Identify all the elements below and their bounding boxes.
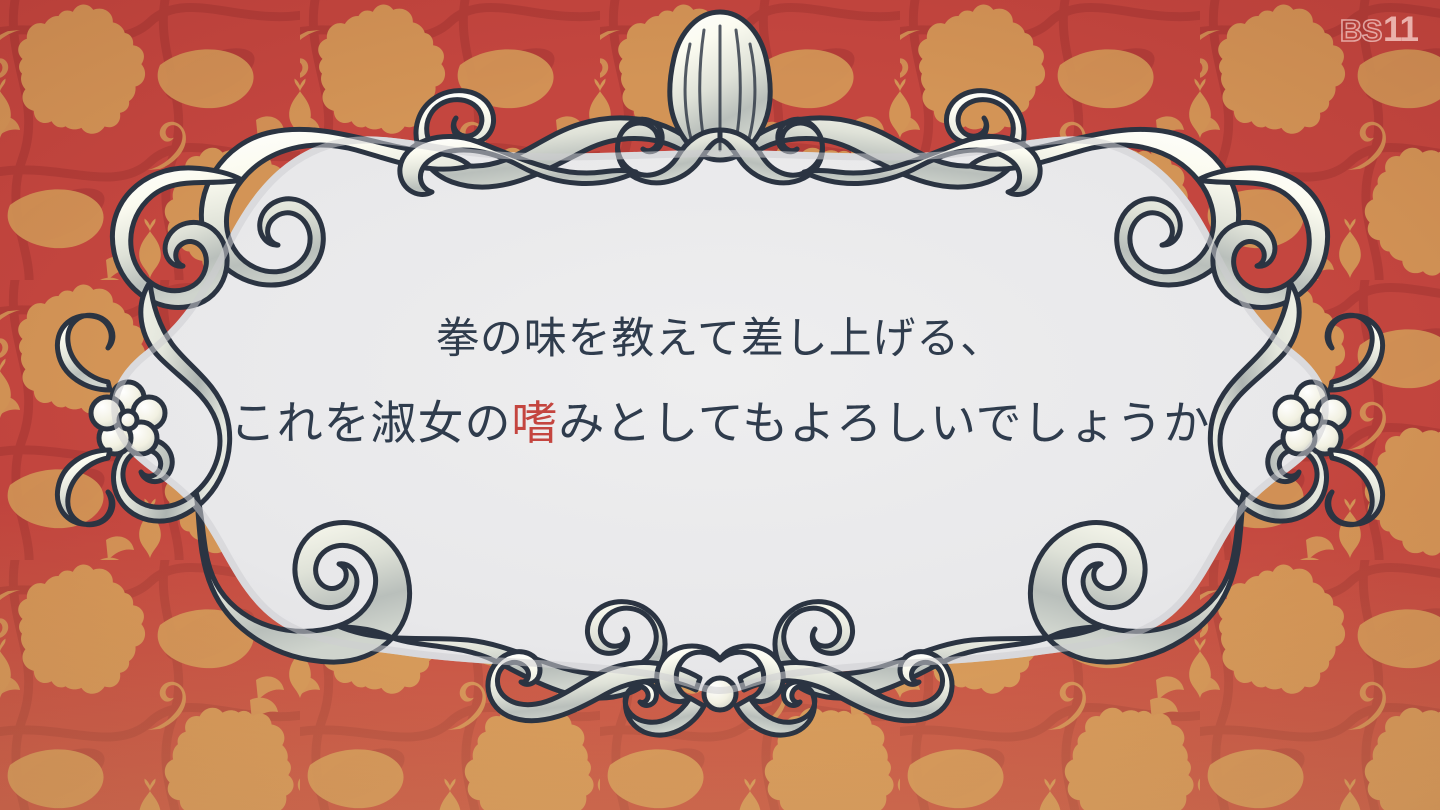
ornate-cartouche-frame (0, 0, 1440, 810)
title-card-stage: 拳の味を教えて差し上げる、 これを淑女の嗜みとしてもよろしいでしょうか BS 1… (0, 0, 1440, 810)
inner-panel (111, 136, 1328, 694)
channel-logo-bug: BS 11 (1340, 10, 1418, 50)
channel-logo-11-solid: 11 (1383, 10, 1418, 50)
channel-logo-bs-outline: BS (1340, 13, 1382, 49)
